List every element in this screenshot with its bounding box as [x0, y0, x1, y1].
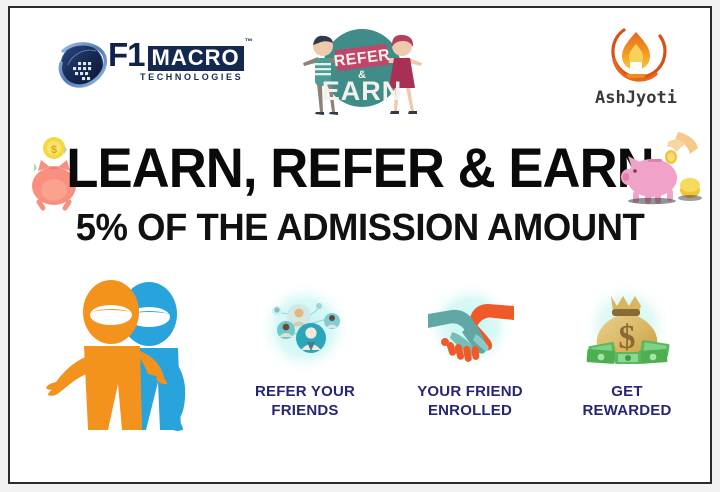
- banner-content: F1 MACRO ™ TECHNOLOGIES: [10, 8, 710, 482]
- f1-tagline: TECHNOLOGIES: [140, 72, 256, 82]
- refer-and-earn-emblem: REFER & EARN: [282, 22, 442, 118]
- headline-main: LEARN, REFER & EARN: [31, 138, 689, 198]
- banner-canvas: F1 MACRO ™ TECHNOLOGIES: [0, 0, 720, 492]
- ashjyoti-logo: AshJyoti: [584, 24, 688, 116]
- handshake-icon: [418, 280, 522, 376]
- social-network-avatars-icon: [253, 280, 357, 376]
- step-label: REFER YOUR FRIENDS: [225, 382, 385, 420]
- banner-frame: F1 MACRO ™ TECHNOLOGIES: [8, 6, 712, 484]
- step-get-rewarded: $: [547, 280, 707, 420]
- step-label-line1: YOUR FRIEND: [417, 383, 523, 400]
- headline-zone: $ LEARN, REFER & EARN 5% OF THE ADMISSIO…: [10, 132, 710, 262]
- step-label-line1: REFER YOUR: [255, 383, 355, 400]
- step-your-friend-enrolled: YOUR FRIEND ENROLLED: [390, 280, 550, 420]
- step-label-line1: GET: [611, 383, 642, 400]
- ashjyoti-wordmark: AshJyoti: [584, 88, 688, 108]
- f1-macro-logo: F1 MACRO ™ TECHNOLOGIES: [46, 30, 256, 104]
- f1-macro-wordmark: F1 MACRO ™ TECHNOLOGIES: [108, 38, 256, 82]
- step-label-line2: ENROLLED: [428, 402, 512, 419]
- headline-sub: 5% OF THE ADMISSION AMOUNT: [24, 206, 696, 250]
- logo-row: F1 MACRO ™ TECHNOLOGIES: [10, 22, 710, 118]
- flame-icon: [604, 24, 668, 86]
- steps-zone: REFER YOUR FRIENDS: [10, 270, 710, 450]
- f1-brand-secondary: MACRO: [148, 46, 244, 71]
- two-hugging-friends-icon: [48, 278, 208, 444]
- piggy-bank-pink-icon: [618, 128, 704, 208]
- trademark-symbol: ™: [245, 38, 253, 46]
- step-label: YOUR FRIEND ENROLLED: [390, 382, 550, 420]
- step-label: GET REWARDED: [547, 382, 707, 420]
- money-bag-with-cash-icon: $: [575, 280, 679, 376]
- step-label-line2: FRIENDS: [271, 402, 338, 419]
- f1-brand-primary: F1: [108, 38, 145, 71]
- svg-text:$: $: [619, 319, 636, 356]
- earn-word: EARN: [322, 76, 403, 106]
- globe-icon: [52, 34, 112, 94]
- step-label-line2: REWARDED: [582, 402, 671, 419]
- step-refer-your-friends: REFER YOUR FRIENDS: [225, 280, 385, 420]
